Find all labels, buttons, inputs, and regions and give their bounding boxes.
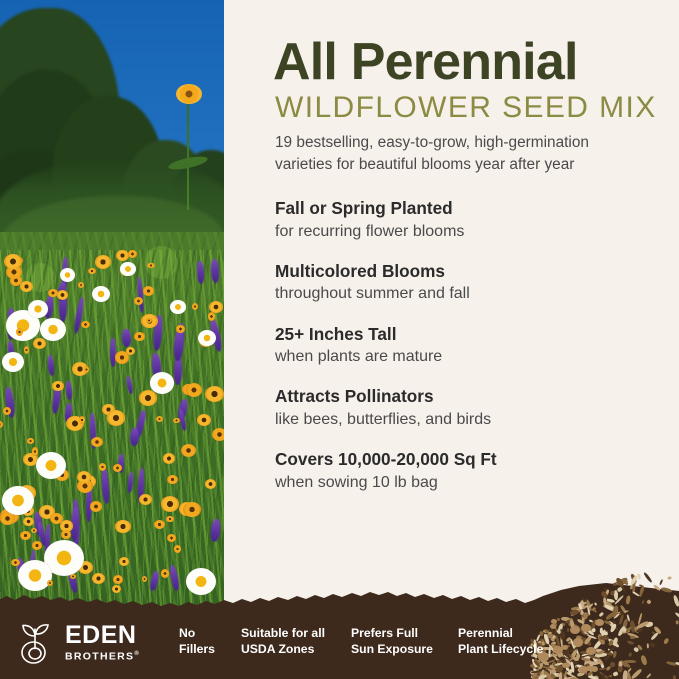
orange-daisy-bloom: [4, 254, 22, 269]
purple-salvia-spike: [121, 329, 130, 347]
feature-title: Attracts Pollinators: [275, 386, 665, 408]
orange-daisy-bloom: [107, 410, 125, 425]
feature-title: Covers 10,000-20,000 Sq Ft: [275, 449, 665, 471]
feature-subtitle: when plants are mature: [275, 347, 665, 368]
orange-daisy-bloom: [186, 383, 202, 397]
small-bloom: [27, 438, 34, 443]
orange-daisy-bloom: [161, 496, 179, 511]
footer-badges: NoFillersSuitable for allUSDA ZonesPrefe…: [144, 626, 578, 657]
orange-daisy-bloom: [143, 286, 154, 295]
logo-wordmark: EDEN BROTHERS®: [65, 623, 140, 662]
badge-line-1: Prefers Full: [351, 626, 458, 642]
orange-daisy-bloom: [115, 520, 131, 533]
white-shasta-daisy: [28, 300, 48, 318]
small-bloom: [3, 407, 11, 415]
orange-daisy-bloom: [33, 338, 46, 349]
orange-daisy-bloom: [90, 501, 102, 512]
badge-line-2: Sun Exposure: [351, 642, 458, 658]
small-bloom: [70, 574, 76, 579]
small-bloom: [167, 534, 176, 542]
orange-daisy-bloom: [20, 281, 33, 292]
small-bloom: [78, 282, 84, 288]
footer-badge: NoFillers: [179, 626, 241, 657]
orange-daisy-bloom: [52, 381, 63, 391]
orange-daisy-bloom: [116, 250, 129, 261]
white-shasta-daisy: [150, 372, 174, 394]
white-shasta-daisy: [60, 268, 75, 282]
footer-badge: Prefers FullSun Exposure: [351, 626, 458, 657]
logo-brothers-text: BROTHERS®: [65, 651, 140, 662]
orange-daisy-bloom: [139, 390, 157, 406]
orange-daisy-bloom: [113, 464, 122, 472]
page-subtitle: WILDFLOWER SEED MIX: [275, 93, 657, 123]
small-bloom: [176, 325, 184, 333]
footer-badge: Suitable for allUSDA Zones: [241, 626, 351, 657]
badge-line-2: USDA Zones: [241, 642, 351, 658]
small-bloom: [99, 463, 106, 470]
logo-eden-text: EDEN: [65, 623, 140, 648]
small-bloom: [174, 545, 181, 553]
orange-daisy-bloom: [139, 494, 152, 505]
tall-orange-daisy: [176, 84, 202, 104]
purple-salvia-spike: [110, 338, 116, 367]
small-bloom: [173, 418, 180, 424]
feature-item: Attracts Pollinatorslike bees, butterfli…: [275, 386, 665, 430]
feature-subtitle: throughout summer and fall: [275, 284, 665, 305]
orange-daisy-bloom: [23, 517, 33, 526]
badge-line-1: Suitable for all: [241, 626, 351, 642]
eden-brothers-logo: EDEN BROTHERS®: [18, 620, 144, 664]
brand-footer: EDEN BROTHERS® NoFillersSuitable for all…: [0, 605, 679, 679]
orange-daisy-bloom: [209, 301, 223, 313]
badge-line-1: Perennial: [458, 626, 578, 642]
feature-subtitle: for recurring flower blooms: [275, 222, 665, 243]
orange-daisy-bloom: [205, 386, 224, 402]
orange-daisy-bloom: [32, 541, 42, 549]
sprout-seed-icon: [18, 620, 58, 664]
white-shasta-daisy: [2, 352, 24, 372]
feature-list: Fall or Spring Plantedfor recurring flow…: [275, 198, 665, 512]
orange-daisy-bloom: [163, 453, 175, 463]
product-feature-card: All Perennial WILDFLOWER SEED MIX 19 bes…: [0, 0, 679, 679]
small-bloom: [166, 516, 173, 522]
text-panel: All Perennial WILDFLOWER SEED MIX 19 bes…: [224, 0, 679, 612]
feature-title: 25+ Inches Tall: [275, 324, 665, 346]
badge-line-2: Plant Lifecycle: [458, 642, 578, 658]
lede-text: 19 bestselling, easy-to-grow, high-germi…: [275, 132, 635, 176]
orange-daisy-bloom: [183, 502, 200, 517]
white-shasta-daisy: [2, 486, 34, 515]
badge-line-1: No: [179, 626, 241, 642]
footer-badge: PerennialPlant Lifecycle: [458, 626, 578, 657]
orange-daisy-bloom: [91, 437, 103, 447]
feature-item: 25+ Inches Tallwhen plants are mature: [275, 324, 665, 368]
tall-flower-stem: [187, 98, 189, 210]
small-bloom: [32, 447, 37, 456]
feature-item: Multicolored Bloomsthroughout summer and…: [275, 261, 665, 305]
orange-daisy-bloom: [115, 351, 130, 363]
feature-subtitle: like bees, butterflies, and birds: [275, 410, 665, 431]
orange-daisy-bloom: [20, 531, 31, 540]
feature-title: Fall or Spring Planted: [275, 198, 665, 220]
white-shasta-daisy: [36, 452, 66, 479]
feature-subtitle: when sowing 10 lb bag: [275, 473, 665, 494]
small-bloom: [161, 569, 168, 577]
small-bloom: [192, 303, 198, 310]
badge-line-2: Fillers: [179, 642, 241, 658]
page-title: All Perennial: [273, 36, 578, 88]
small-bloom: [24, 346, 29, 354]
orange-daisy-bloom: [205, 479, 217, 489]
small-bloom: [88, 268, 96, 275]
wildflower-meadow-photo: [0, 0, 224, 612]
orange-daisy-bloom: [167, 475, 177, 484]
orange-daisy-bloom: [134, 332, 144, 341]
feature-item: Covers 10,000-20,000 Sq Ftwhen sowing 10…: [275, 449, 665, 493]
orange-daisy-bloom: [128, 250, 137, 258]
feature-title: Multicolored Blooms: [275, 261, 665, 283]
orange-daisy-bloom: [61, 530, 72, 539]
small-bloom: [79, 416, 86, 424]
feature-item: Fall or Spring Plantedfor recurring flow…: [275, 198, 665, 242]
